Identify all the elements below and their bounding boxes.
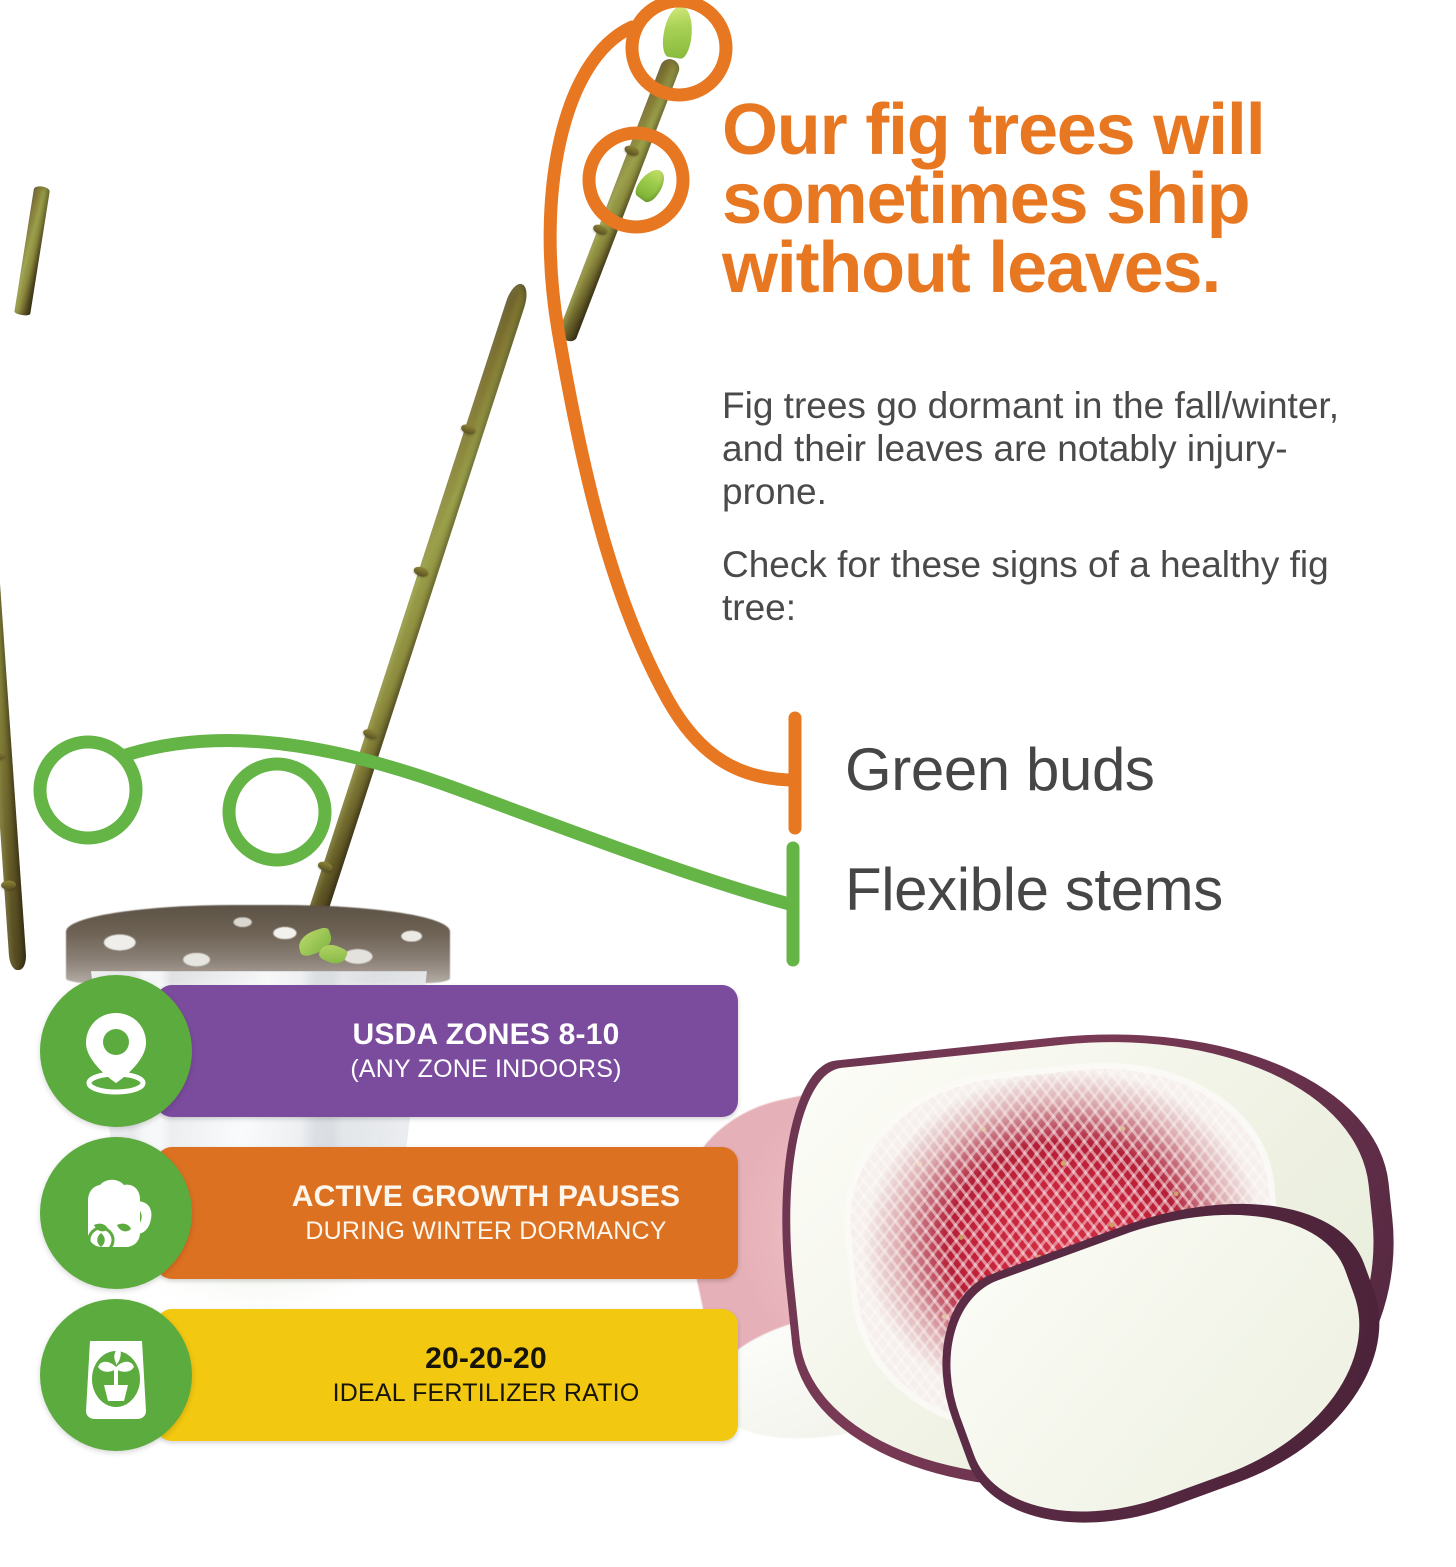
badge-fertilizer-ratio-pill: 20-20-20 IDEAL FERTILIZER RATIO bbox=[156, 1309, 738, 1441]
badge-usda-zones-pill: USDA ZONES 8-10 (ANY ZONE INDOORS) bbox=[156, 985, 738, 1117]
callout-flexible-stems: Flexible stems bbox=[845, 855, 1223, 924]
badge-fertilizer-ratio-line2: IDEAL FERTILIZER RATIO bbox=[333, 1379, 640, 1407]
badge-usda-zones-line1: USDA ZONES 8-10 bbox=[353, 1019, 620, 1051]
badge-usda-zones-line2: (ANY ZONE INDOORS) bbox=[350, 1055, 621, 1083]
badge-active-growth-pill: ACTIVE GROWTH PAUSES DURING WINTER DORMA… bbox=[156, 1147, 738, 1279]
badge-fertilizer-ratio-line1: 20-20-20 bbox=[425, 1343, 547, 1375]
fertilizer-bag-icon bbox=[40, 1299, 192, 1451]
badge-active-growth-line1: ACTIVE GROWTH PAUSES bbox=[292, 1181, 680, 1213]
body-paragraph-1: Fig trees go dormant in the fall/winter,… bbox=[722, 385, 1382, 514]
callout-green-buds: Green buds bbox=[845, 735, 1155, 804]
body-copy: Fig trees go dormant in the fall/winter,… bbox=[722, 385, 1382, 630]
badge-active-growth-line2: DURING WINTER DORMANCY bbox=[305, 1217, 666, 1245]
body-paragraph-2: Check for these signs of a healthy fig t… bbox=[722, 544, 1382, 630]
watering-can-icon bbox=[40, 1137, 192, 1289]
location-pin-icon bbox=[40, 975, 192, 1127]
page-title: Our fig trees will sometimes ship withou… bbox=[722, 96, 1456, 303]
infographic-canvas: Our fig trees will sometimes ship withou… bbox=[0, 0, 1456, 1500]
